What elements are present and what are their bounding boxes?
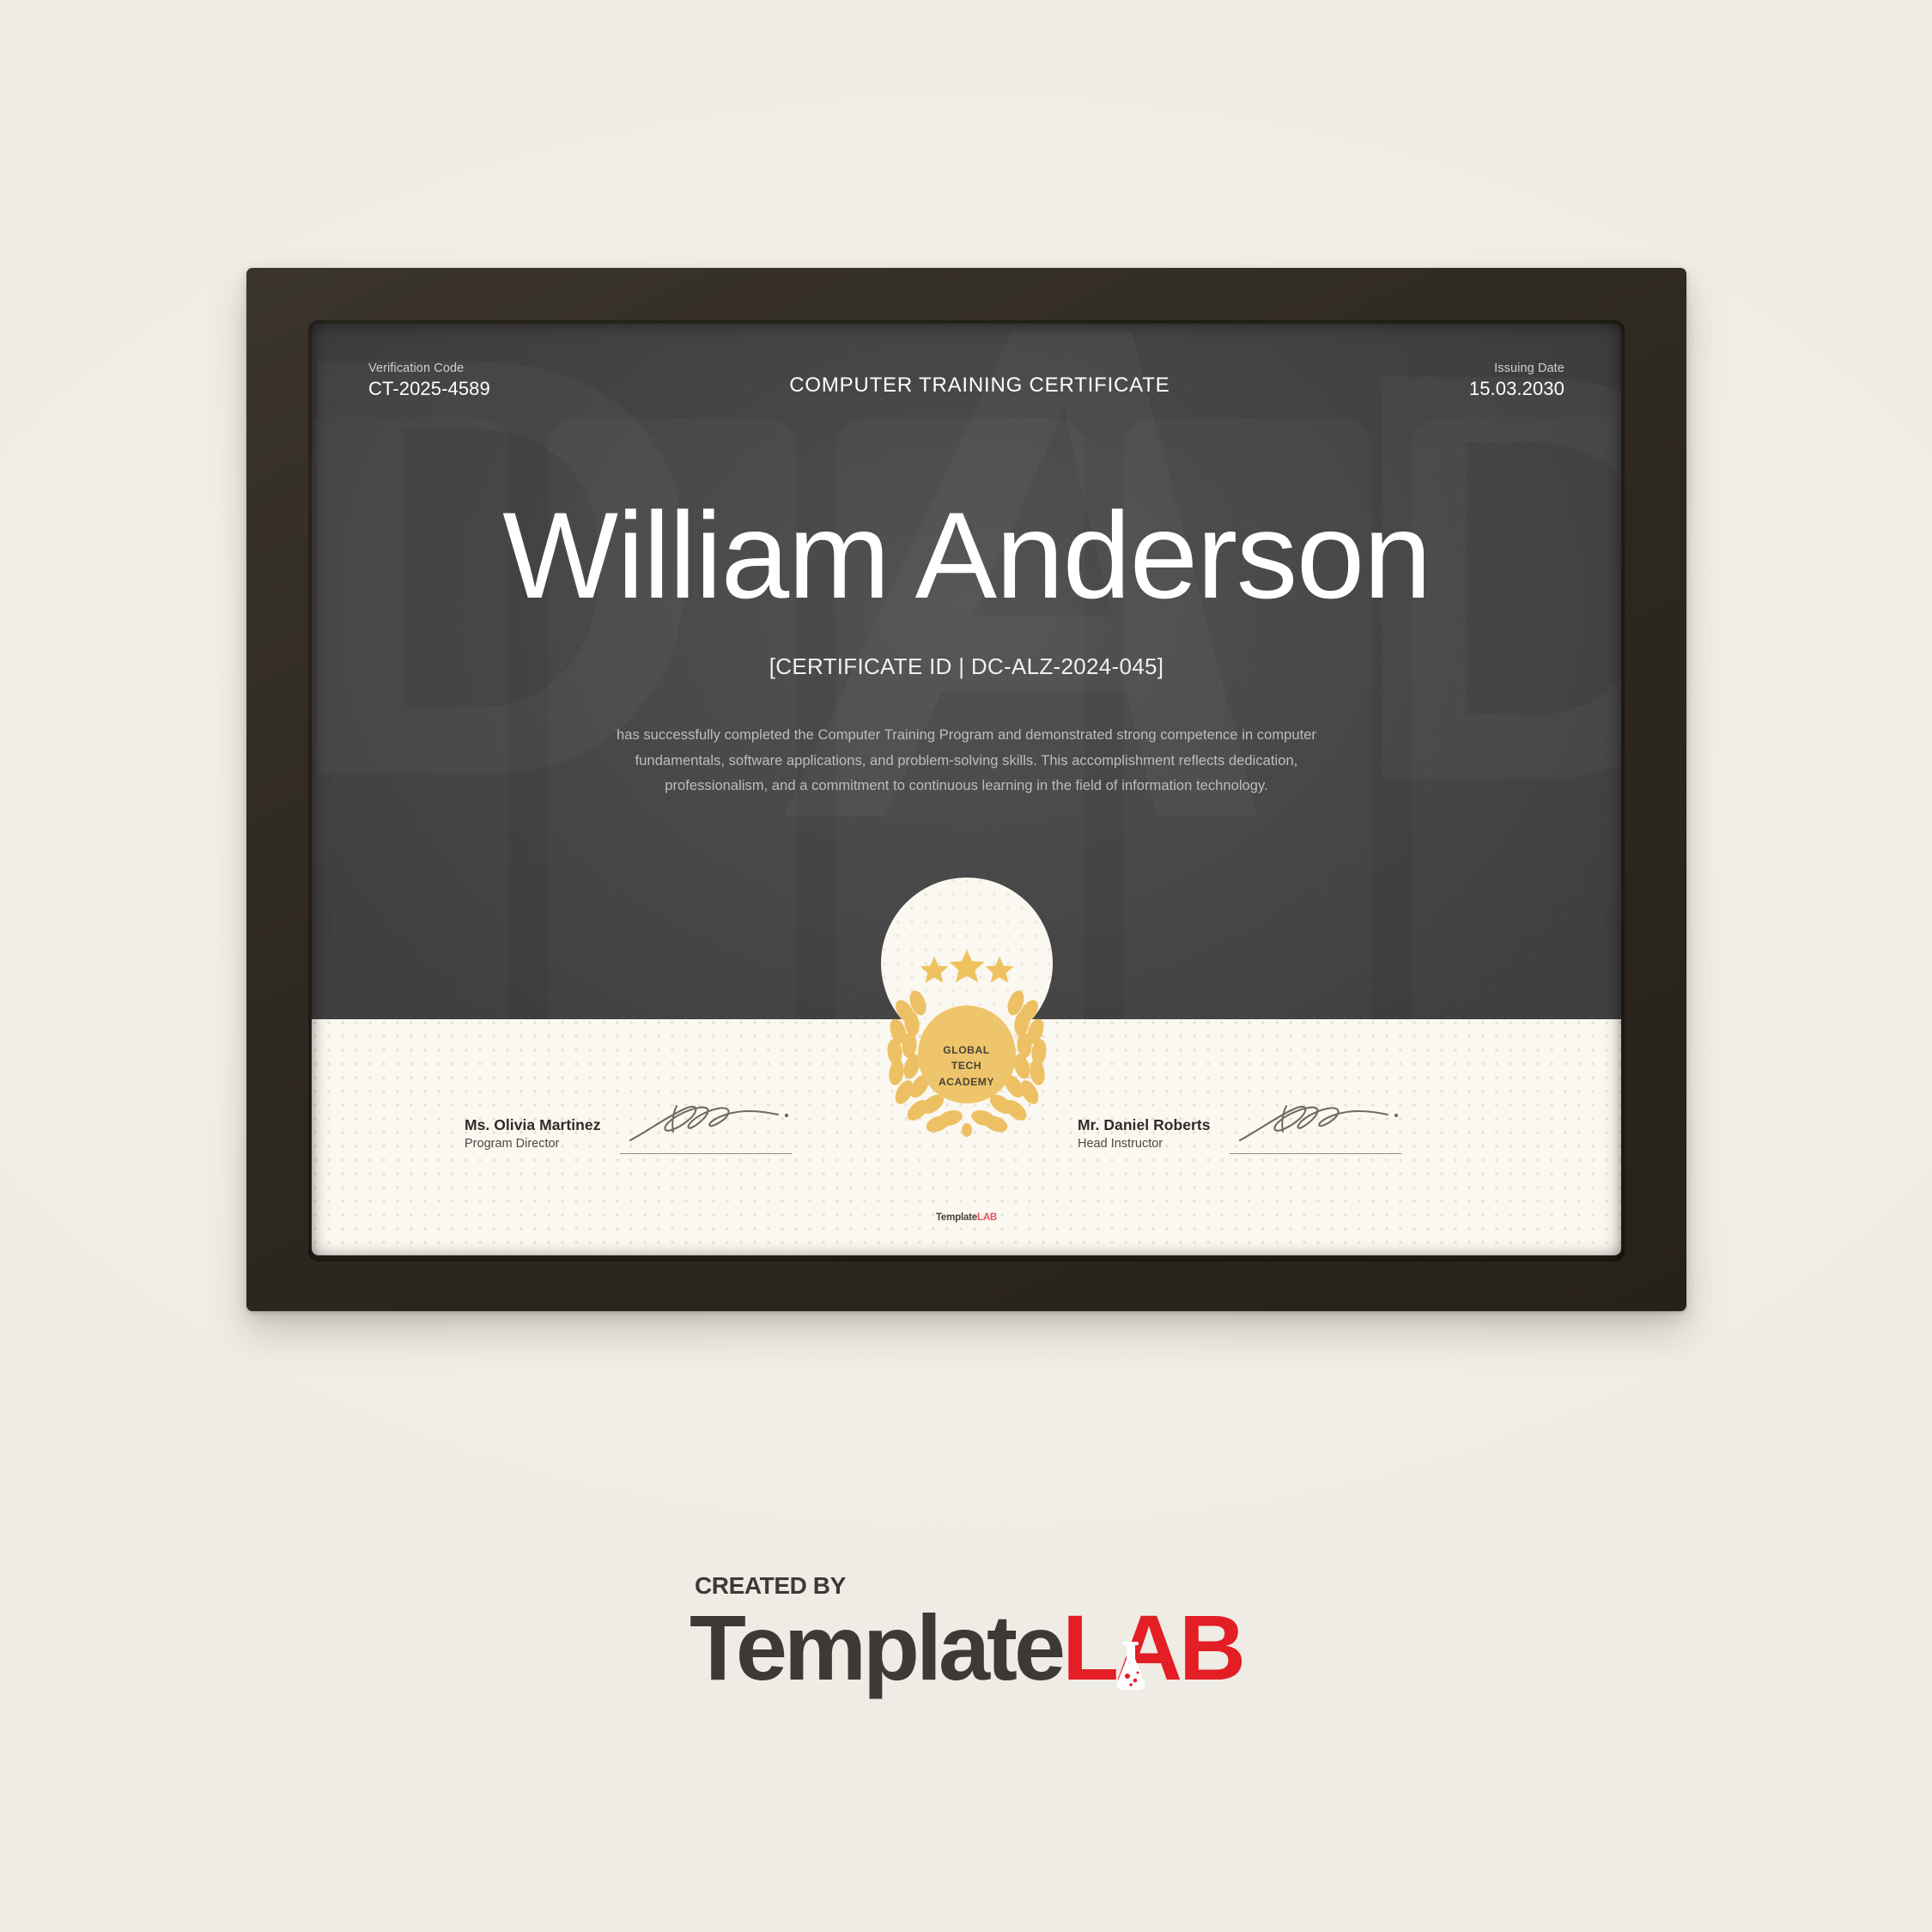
signature-block-program-director: Ms. Olivia Martinez Program Director [465, 1104, 792, 1154]
signatory-name: Ms. Olivia Martinez [465, 1116, 601, 1134]
seal-text-line2: TECH [911, 1058, 1023, 1073]
signatory-title: Program Director [465, 1137, 601, 1151]
signature-mark [620, 1104, 792, 1154]
issuing-date-block: Issuing Date 15.03.2030 [1469, 361, 1564, 400]
recipient-name: William Anderson [312, 492, 1621, 621]
signature-script-icon [623, 1101, 792, 1142]
flask-icon [1112, 1613, 1150, 1663]
signature-mark [1230, 1104, 1401, 1154]
seal-stars [920, 950, 1013, 983]
verification-code-value: CT-2025-4589 [368, 378, 490, 400]
brand-kicker: CREATED BY [695, 1572, 846, 1600]
certificate-title: COMPUTER TRAINING CERTIFICATE [789, 361, 1170, 398]
signature-script-icon [1233, 1101, 1401, 1142]
brand-accent: LAB [1062, 1595, 1242, 1699]
signature-block-head-instructor: Mr. Daniel Roberts Head Instructor [1078, 1104, 1401, 1154]
certificate-id: [CERTIFICATE ID | DC-ALZ-2024-045] [312, 653, 1621, 680]
seal-text: GLOBAL TECH ACADEMY [911, 1042, 1023, 1090]
picture-frame: D A D Verification Code CT-2025-4589 COM… [246, 268, 1686, 1311]
certificate-body: William Anderson [CERTIFICATE ID | DC-AL… [312, 492, 1621, 799]
signature-line [620, 1153, 792, 1154]
inner-brand-primary: Template [936, 1212, 977, 1223]
inner-brand-accent: LAB [977, 1212, 997, 1223]
signature-line [1230, 1153, 1401, 1154]
verification-code-block: Verification Code CT-2025-4589 [368, 361, 490, 400]
signature-names: Mr. Daniel Roberts Head Instructor [1078, 1116, 1211, 1154]
brand-accent-wrap: LAB [1062, 1601, 1242, 1694]
signatory-title: Head Instructor [1078, 1137, 1211, 1151]
issuing-date-label: Issuing Date [1469, 361, 1564, 375]
seal-text-line3: ACADEMY [911, 1074, 1023, 1090]
templatelab-logo: CREATED BY Template LAB [0, 1601, 1932, 1694]
verification-code-label: Verification Code [368, 361, 490, 375]
certificate-document: D A D Verification Code CT-2025-4589 COM… [312, 324, 1621, 1255]
issuing-date-value: 15.03.2030 [1469, 378, 1564, 400]
brand-primary: Template [690, 1601, 1062, 1694]
signature-row: Ms. Olivia Martinez Program Director [312, 1104, 1621, 1173]
screenshot-canvas: D A D Verification Code CT-2025-4589 COM… [0, 0, 1932, 1932]
certificate-header: Verification Code CT-2025-4589 COMPUTER … [368, 361, 1564, 400]
seal-text-line1: GLOBAL [911, 1042, 1023, 1058]
certificate-description: has successfully completed the Computer … [604, 723, 1329, 799]
signatory-name: Mr. Daniel Roberts [1078, 1116, 1211, 1134]
signature-names: Ms. Olivia Martinez Program Director [465, 1116, 601, 1154]
inner-templatelab-logo: TemplateLAB [936, 1212, 997, 1223]
